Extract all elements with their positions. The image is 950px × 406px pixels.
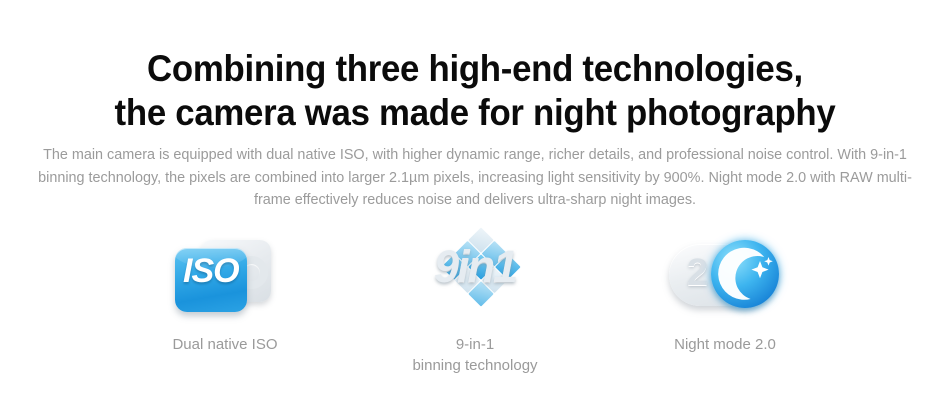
nine-in-one-diamond-icon: 9in1: [415, 235, 535, 315]
feature-banner: Combining three high-end technologies, t…: [0, 0, 950, 406]
nine-in-one-icon-wrapper: 9in1: [410, 232, 540, 318]
headline-line-1: Combining three high-end technologies,: [29, 47, 922, 91]
feature-item-night-mode: 2 Night mode 2.0: [600, 232, 850, 355]
night-mode-version-digit: 2: [687, 254, 708, 292]
feature-caption-dual-native-iso: Dual native ISO: [172, 334, 277, 355]
page-title: Combining three high-end technologies, t…: [0, 47, 950, 135]
headline-line-2: the camera was made for night photograph…: [29, 91, 922, 135]
feature-item-dual-native-iso: ISO Dual native ISO: [100, 232, 350, 355]
feature-list: ISO Dual native ISO: [0, 232, 950, 376]
iso-label: ISO: [183, 254, 239, 288]
iso-badge-icon: ISO: [171, 238, 279, 312]
moon-circle: [711, 240, 779, 308]
description-paragraph: The main camera is equipped with dual na…: [22, 144, 928, 212]
feature-caption-night-mode: Night mode 2.0: [674, 334, 776, 355]
iso-icon-wrapper: ISO: [160, 232, 290, 318]
feature-item-nine-in-one-binning: 9in1 9-in-1 binning technology: [350, 232, 600, 376]
feature-caption-nine-in-one-binning: 9-in-1 binning technology: [412, 334, 537, 376]
night-mode-icon-wrapper: 2: [660, 232, 790, 318]
night-mode-moon-icon: 2: [669, 238, 781, 312]
nine-in-one-label: 9in1: [415, 244, 535, 289]
